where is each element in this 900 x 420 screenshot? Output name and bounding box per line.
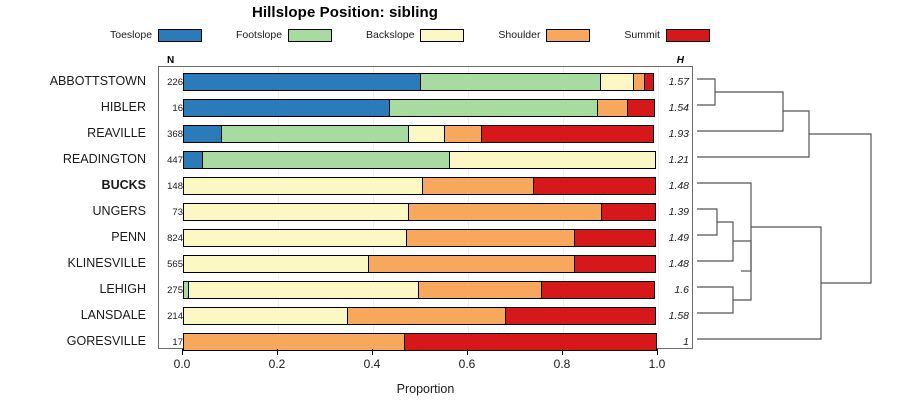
bar-segment-backslope[interactable] [408,125,445,143]
legend-item-label: Footslope [236,29,282,41]
legend-swatch-icon [158,29,202,42]
x-axis-tick [467,349,468,355]
row-h-value: 1.93 [654,121,692,147]
bar-segment-footslope[interactable] [420,73,601,91]
bar-segment-shoulder[interactable] [368,255,575,273]
bar-row[interactable]: 1481.48 [159,173,692,199]
y-axis-label: BUCKS [0,172,152,198]
legend-item-toeslope[interactable]: Toeslope [110,29,202,42]
row-n-value: 226 [159,69,183,95]
bar-segment-summit[interactable] [574,255,656,273]
bar-row[interactable]: 3681.93 [159,121,692,147]
dendrogram [693,66,900,349]
legend-swatch-icon [420,29,464,42]
legend: ToeslopeFootslopeBackslopeShoulderSummit [110,26,710,44]
bar-segment-summit[interactable] [601,203,656,221]
x-axis-tick-label: 0.6 [459,357,476,371]
y-axis-label: KLINESVILLE [0,250,152,276]
bar-segment-footslope[interactable] [221,125,409,143]
row-n-value: 148 [159,173,183,199]
x-axis-tick [562,349,563,355]
row-h-value: 1.48 [654,251,692,277]
legend-item-label: Backslope [366,29,414,41]
bar-segment-shoulder[interactable] [408,203,603,221]
y-axis-label: LANSDALE [0,302,152,328]
legend-item-backslope[interactable]: Backslope [366,29,464,42]
bar-segment-summit[interactable] [505,307,656,325]
bar-segment-backslope[interactable] [449,151,656,169]
legend-item-shoulder[interactable]: Shoulder [498,29,590,42]
row-n-value: 447 [159,147,183,173]
x-axis-title: Proportion [158,382,693,396]
dendrogram-svg [693,66,900,349]
stacked-bar[interactable] [183,73,658,91]
column-header-h: H [677,55,684,66]
x-axis-tick-label: 0.4 [364,357,381,371]
row-h-value: 1.57 [654,69,692,95]
bar-segment-shoulder[interactable] [347,307,506,325]
legend-item-footslope[interactable]: Footslope [236,29,332,42]
legend-item-label: Shoulder [498,29,540,41]
bar-segment-toeslope[interactable] [183,125,222,143]
bar-row[interactable]: 4471.21 [159,147,692,173]
row-h-value: 1.48 [654,173,692,199]
bar-segment-shoulder[interactable] [418,281,542,299]
bar-segment-backslope[interactable] [600,73,634,91]
row-h-value: 1.49 [654,225,692,251]
legend-item-summit[interactable]: Summit [624,29,710,42]
y-axis-label: ABBOTTSTOWN [0,68,152,94]
row-n-value: 73 [159,199,183,225]
x-axis-tick [372,349,373,355]
bar-segment-backslope[interactable] [183,307,348,325]
row-n-value: 214 [159,303,183,329]
bar-segment-summit[interactable] [644,73,654,91]
row-h-value: 1.54 [654,95,692,121]
bar-segment-backslope[interactable] [183,229,407,247]
stacked-bar[interactable] [183,151,658,169]
row-n-value: 16 [159,95,183,121]
y-axis-label: GORESVILLE [0,328,152,354]
bar-segment-backslope[interactable] [183,255,369,273]
x-axis-tick [182,349,183,355]
bar-row[interactable]: 8241.49 [159,225,692,251]
x-axis-tick-label: 0.0 [174,357,191,371]
page-title: Hillslope Position: sibling [0,4,690,21]
row-h-value: 1.39 [654,199,692,225]
y-axis-label: PENN [0,224,152,250]
row-h-value: 1.6 [654,277,692,303]
x-axis-tick [657,349,658,355]
bar-segment-summit[interactable] [541,281,655,299]
row-h-value: 1.21 [654,147,692,173]
bar-segment-backslope[interactable] [183,203,409,221]
y-axis-label: UNGERS [0,198,152,224]
bar-segment-shoulder[interactable] [422,177,535,195]
x-axis-tick-label: 0.2 [269,357,286,371]
x-axis-tick [277,349,278,355]
bar-row[interactable]: 731.39 [159,199,692,225]
legend-swatch-icon [666,29,710,42]
x-axis-tick-label: 0.8 [554,357,571,371]
row-n-value: 565 [159,251,183,277]
legend-swatch-icon [288,29,332,42]
y-axis-label: LEHIGH [0,276,152,302]
bar-segment-toeslope[interactable] [183,99,390,117]
row-n-value: 275 [159,277,183,303]
stacked-bar[interactable] [183,99,658,117]
bar-row[interactable]: 5651.48 [159,251,692,277]
chart-root: Hillslope Position: sibling ToeslopeFoot… [0,0,900,420]
y-axis-label: READINGTON [0,146,152,172]
row-n-value: 824 [159,225,183,251]
bar-segment-footslope[interactable] [202,151,450,169]
row-n-value: 368 [159,121,183,147]
bar-segment-footslope[interactable] [389,99,598,117]
bar-row[interactable]: 2261.57 [159,69,692,95]
bar-segment-toeslope[interactable] [183,73,421,91]
bar-row[interactable]: 2751.6 [159,277,692,303]
bar-segment-toeslope[interactable] [183,151,203,169]
x-axis-tick-label: 1.0 [649,357,666,371]
bar-segment-shoulder[interactable] [406,229,575,247]
bar-row[interactable]: 2141.58 [159,303,692,329]
bar-segment-summit[interactable] [574,229,656,247]
y-axis-label: HIBLER [0,94,152,120]
y-axis-labels: ABBOTTSTOWNHIBLERREAVILLEREADINGTONBUCKS… [0,68,152,354]
stacked-bar[interactable] [183,203,658,221]
bar-segment-shoulder[interactable] [444,125,482,143]
bar-segment-shoulder[interactable] [597,99,628,117]
legend-item-label: Summit [624,29,660,41]
bar-segment-summit[interactable] [627,99,656,117]
stacked-bar[interactable] [183,125,658,143]
bar-segment-summit[interactable] [481,125,654,143]
stacked-bar[interactable] [183,255,658,273]
legend-swatch-icon [546,29,590,42]
row-h-value: 1.58 [654,303,692,329]
bar-row[interactable]: 161.54 [159,95,692,121]
plot-panel: N H 2261.57161.543681.934471.211481.4873… [158,66,693,349]
stacked-bar[interactable] [183,229,658,247]
bar-rows: 2261.57161.543681.934471.211481.48731.39… [159,69,692,355]
stacked-bar[interactable] [183,177,658,195]
legend-item-label: Toeslope [110,29,152,41]
column-header-n: N [167,55,174,66]
stacked-bar[interactable] [183,307,658,325]
bar-segment-backslope[interactable] [188,281,419,299]
bar-segment-summit[interactable] [533,177,656,195]
stacked-bar[interactable] [183,281,658,299]
y-axis-label: REAVILLE [0,120,152,146]
bar-segment-backslope[interactable] [183,177,423,195]
